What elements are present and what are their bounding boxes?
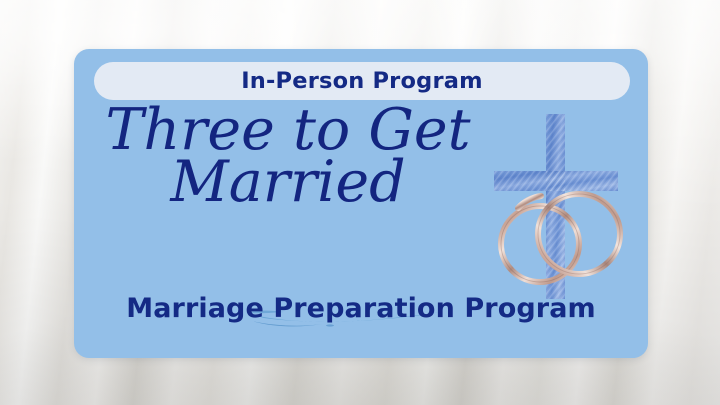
program-title: Three to Get Married: [88, 104, 488, 209]
badge-label: In-Person Program: [241, 70, 483, 93]
title-line-2: Married: [88, 156, 488, 208]
poster-canvas: In-Person Program Three to Get Married M…: [0, 0, 720, 405]
program-subtitle: Marriage Preparation Program: [74, 295, 648, 322]
cross-and-rings-artwork: [478, 104, 638, 299]
program-card: In-Person Program Three to Get Married M…: [74, 49, 648, 358]
in-person-program-badge: In-Person Program: [94, 62, 630, 100]
